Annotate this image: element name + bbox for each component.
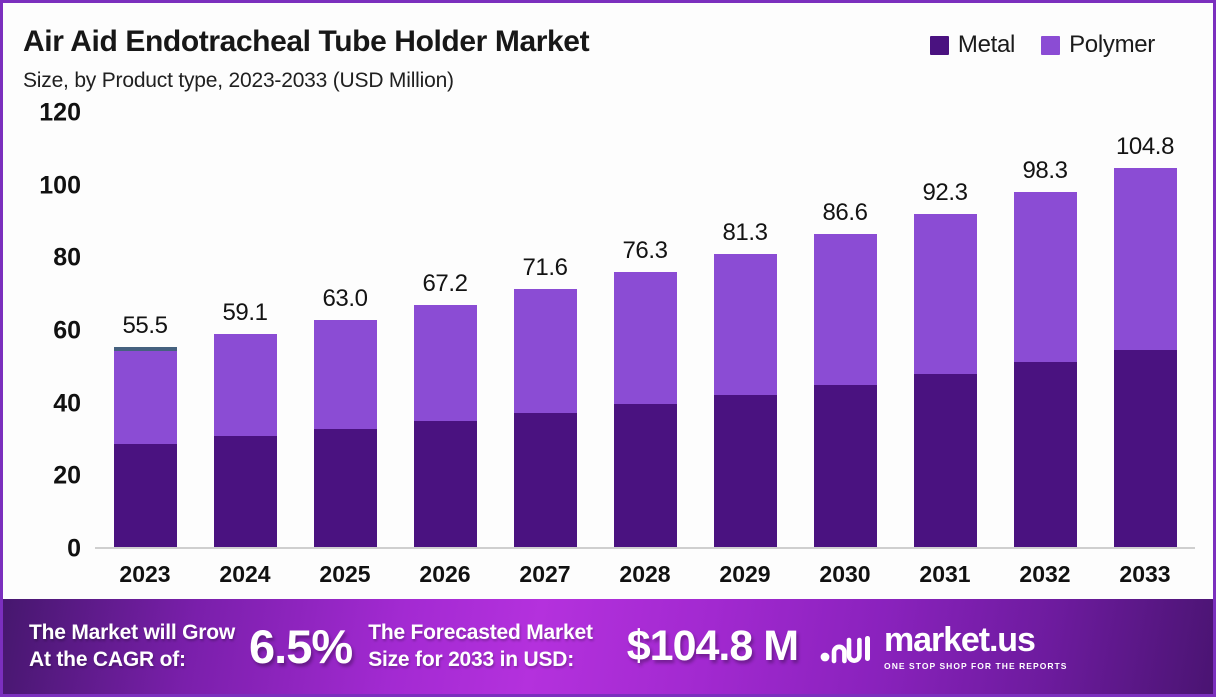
bar-group[interactable]: 92.32031: [914, 214, 977, 549]
legend-item-label: Polymer: [1069, 31, 1155, 59]
chart-subtitle: Size, by Product type, 2023-2033 (USD Mi…: [23, 69, 454, 93]
bar-segment-metal[interactable]: [1114, 350, 1177, 549]
chart-title: Air Aid Endotracheal Tube Holder Market: [23, 25, 589, 59]
bar-group[interactable]: 59.12024: [214, 334, 277, 549]
y-axis-tick-label: 80: [53, 244, 81, 273]
bar-value-label: 86.6: [822, 199, 867, 227]
legend-item-label: Metal: [958, 31, 1015, 59]
infographic-root: Air Aid Endotracheal Tube Holder Market …: [0, 0, 1216, 697]
bar-segment-polymer[interactable]: [714, 254, 777, 395]
y-axis-tick-label: 40: [53, 389, 81, 418]
bar-value-label: 81.3: [722, 219, 767, 247]
bar-value-label: 55.5: [122, 312, 167, 340]
x-axis-tick-label: 2024: [219, 561, 270, 588]
bar-value-label: 76.3: [622, 237, 667, 265]
bar-segment-metal[interactable]: [714, 395, 777, 549]
bar-group[interactable]: 98.32032: [1014, 192, 1077, 549]
bar-value-label: 59.1: [222, 299, 267, 327]
bar-segment-polymer[interactable]: [414, 305, 477, 422]
logo-wordmark: market.us: [884, 623, 1067, 657]
bar-segment-metal[interactable]: [814, 385, 877, 549]
bar-value-label: 92.3: [922, 179, 967, 207]
bar-segment-polymer[interactable]: [814, 234, 877, 384]
plot-area: 020406080100120 55.5202359.1202463.02025…: [95, 113, 1195, 549]
x-axis-tick-label: 2023: [119, 561, 170, 588]
x-axis-tick-label: 2028: [619, 561, 670, 588]
x-axis-tick-label: 2027: [519, 561, 570, 588]
x-axis-tick-label: 2032: [1019, 561, 1070, 588]
chart-legend: Metal Polymer: [930, 31, 1155, 59]
bar-segment-metal[interactable]: [614, 404, 677, 549]
bar-segment-polymer[interactable]: [614, 272, 677, 405]
bar-segment-metal[interactable]: [314, 429, 377, 549]
forecast-caption-line2: Size for 2033 in USD:: [368, 647, 593, 673]
x-axis-tick-label: 2029: [719, 561, 770, 588]
bar-value-label: 67.2: [422, 270, 467, 298]
bar-segment-metal[interactable]: [514, 413, 577, 549]
bar-group[interactable]: 67.22026: [414, 305, 477, 549]
cagr-caption: The Market will Grow At the CAGR of:: [29, 620, 235, 672]
market-us-logo-icon: [820, 627, 874, 667]
bar-value-label: 63.0: [322, 285, 367, 313]
x-axis-tick-label: 2025: [319, 561, 370, 588]
legend-item-metal[interactable]: Metal: [930, 31, 1015, 59]
y-axis-tick-label: 0: [67, 535, 81, 564]
bar-group[interactable]: 86.62030: [814, 234, 877, 549]
bar-segment-polymer[interactable]: [214, 334, 277, 435]
x-axis-tick-label: 2030: [819, 561, 870, 588]
bar-group[interactable]: 81.32029: [714, 254, 777, 549]
x-axis-baseline: [95, 547, 1195, 549]
forecast-value: $104.8 M: [627, 622, 798, 671]
logo-tagline: ONE STOP SHOP FOR THE REPORTS: [884, 661, 1067, 671]
bar-segment-metal[interactable]: [414, 421, 477, 549]
legend-swatch-icon: [930, 36, 949, 55]
bar-value-label: 98.3: [1022, 157, 1067, 185]
bar-segment-polymer[interactable]: [114, 351, 177, 443]
bar-group[interactable]: 63.02025: [314, 320, 377, 549]
bar-segment-polymer[interactable]: [1114, 168, 1177, 350]
chart-panel: Air Aid Endotracheal Tube Holder Market …: [3, 3, 1213, 599]
bar-segment-polymer[interactable]: [1014, 192, 1077, 362]
legend-swatch-icon: [1041, 36, 1060, 55]
market-us-logo[interactable]: market.us ONE STOP SHOP FOR THE REPORTS: [820, 623, 1067, 671]
footer-banner: The Market will Grow At the CAGR of: 6.5…: [3, 599, 1213, 694]
bar-segment-polymer[interactable]: [914, 214, 977, 375]
bar-segment-polymer[interactable]: [314, 320, 377, 429]
x-axis-tick-label: 2033: [1119, 561, 1170, 588]
logo-text: market.us ONE STOP SHOP FOR THE REPORTS: [884, 623, 1067, 671]
bar-segment-metal[interactable]: [114, 444, 177, 549]
cagr-caption-line1: The Market will Grow: [29, 620, 235, 646]
x-axis-tick-label: 2031: [919, 561, 970, 588]
bar-segment-polymer[interactable]: [514, 289, 577, 413]
y-axis-tick-label: 100: [39, 171, 81, 200]
y-axis-tick-label: 20: [53, 462, 81, 491]
legend-item-polymer[interactable]: Polymer: [1041, 31, 1155, 59]
bar-value-label: 104.8: [1116, 133, 1174, 161]
bar-group[interactable]: 104.82033: [1114, 168, 1177, 549]
y-axis-tick-label: 60: [53, 317, 81, 346]
bar-value-label: 71.6: [522, 254, 567, 282]
bar-segment-metal[interactable]: [214, 436, 277, 549]
cagr-caption-line2: At the CAGR of:: [29, 647, 235, 673]
cagr-value: 6.5%: [249, 619, 352, 674]
bar-segment-metal[interactable]: [1014, 362, 1077, 549]
y-axis-tick-label: 120: [39, 99, 81, 128]
forecast-caption-line1: The Forecasted Market: [368, 620, 593, 646]
bar-group[interactable]: 76.32028: [614, 272, 677, 549]
bar-group[interactable]: 71.62027: [514, 289, 577, 549]
forecast-caption: The Forecasted Market Size for 2033 in U…: [368, 620, 593, 672]
bar-group[interactable]: 55.52023: [114, 347, 177, 549]
bar-segment-metal[interactable]: [914, 374, 977, 549]
x-axis-tick-label: 2026: [419, 561, 470, 588]
